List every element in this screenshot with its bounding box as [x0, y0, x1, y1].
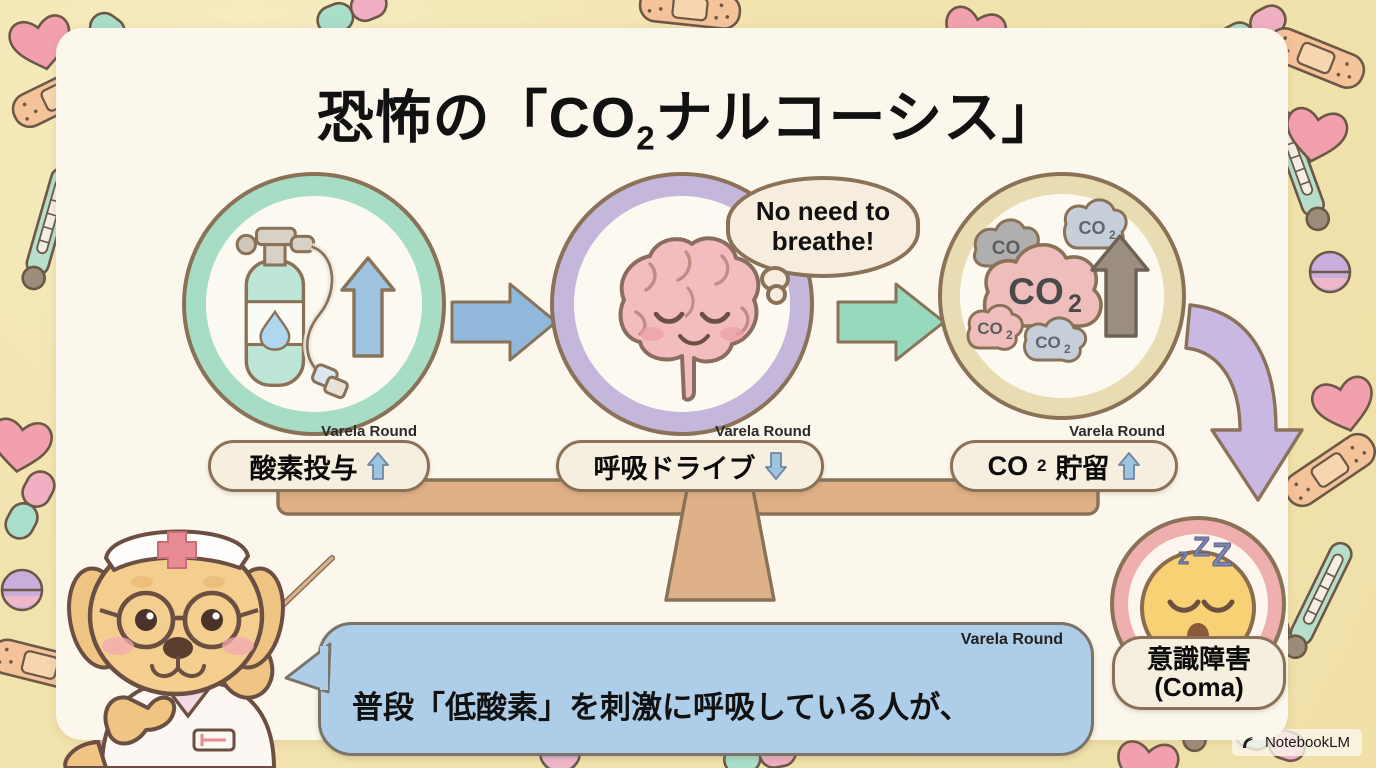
- svg-text:CO: CO: [977, 319, 1003, 338]
- flow-node-oxygen[interactable]: [178, 168, 450, 440]
- label-oxygen-text: 酸素投与: [250, 447, 358, 486]
- trend-up-icon: [367, 451, 389, 481]
- explanation-line-1: 普段「低酸素」を刺激に呼吸している人が、: [352, 687, 1068, 728]
- svg-text:CO: CO: [1035, 333, 1061, 352]
- label-respiratory-drive-text: 呼吸ドライブ: [594, 447, 756, 486]
- thought-line-1: No need to: [756, 197, 890, 227]
- nurse-cap-icon: [106, 531, 248, 570]
- svg-text:Z: Z: [1212, 536, 1232, 573]
- notebooklm-icon: [1241, 735, 1258, 750]
- label-coma-line-2: (Coma): [1154, 673, 1244, 701]
- title-text-post: ナルコーシス」: [656, 86, 1060, 150]
- label-co2-retention[interactable]: Varela Round CO2 貯留: [950, 440, 1178, 492]
- label-coma[interactable]: 意識障害 (Coma): [1112, 636, 1286, 710]
- bubble-tail: [280, 636, 340, 716]
- page-title: 恐怖の「CO2ナルコーシス」: [0, 72, 1376, 158]
- label-oxygen[interactable]: Varela Round 酸素投与: [208, 440, 430, 492]
- svg-text:CO: CO: [1008, 271, 1064, 312]
- svg-text:Z: Z: [1193, 531, 1210, 562]
- title-subscript: 2: [636, 120, 655, 157]
- infographic-canvas: M PLUS Rounded 1c 恐怖の「CO2ナルコーシス」: [0, 0, 1376, 768]
- svg-text:CO: CO: [1079, 218, 1106, 238]
- svg-text:z: z: [1178, 544, 1189, 569]
- trend-up-icon: [1118, 451, 1140, 481]
- pill-font-tag: Varela Round: [1069, 423, 1165, 440]
- nurse-dog-mascot: [42, 498, 342, 768]
- nurse-dog-illustration: [42, 498, 342, 768]
- pill-font-tag: Varela Round: [321, 423, 417, 440]
- label-co2-text-post: 貯留: [1055, 447, 1109, 486]
- pill-font-tag: Varela Round: [715, 423, 811, 440]
- notebooklm-label: NotebookLM: [1265, 734, 1350, 751]
- label-co2-text-pre: CO: [988, 451, 1029, 482]
- svg-text:2: 2: [1064, 342, 1071, 356]
- svg-text:2: 2: [1006, 328, 1013, 342]
- thought-bubble: No need to breathe!: [726, 176, 920, 278]
- trend-down-icon: [765, 451, 787, 481]
- thought-tail-small: [766, 284, 787, 305]
- explanation-text: 普段「低酸素」を刺激に呼吸している人が、 高濃度酸素で呼吸を忘れてしまう現象です…: [352, 646, 1068, 768]
- label-co2-subscript: 2: [1037, 456, 1046, 476]
- co2-retention-circle: CO 2 CO 2 CO 2 CO 2 CO 2: [934, 168, 1190, 424]
- svg-text:CO: CO: [992, 238, 1021, 259]
- svg-text:2: 2: [1068, 290, 1082, 318]
- flow-node-co2-retention[interactable]: CO 2 CO 2 CO 2 CO 2 CO 2: [934, 168, 1190, 424]
- oxygen-circle: [178, 168, 450, 440]
- label-coma-line-1: 意識障害: [1147, 645, 1251, 673]
- title-text-pre: 恐怖の「CO: [317, 86, 637, 150]
- notebooklm-watermark: NotebookLM: [1232, 729, 1362, 756]
- thought-line-2: breathe!: [756, 227, 890, 257]
- label-respiratory-drive[interactable]: Varela Round 呼吸ドライブ: [556, 440, 824, 492]
